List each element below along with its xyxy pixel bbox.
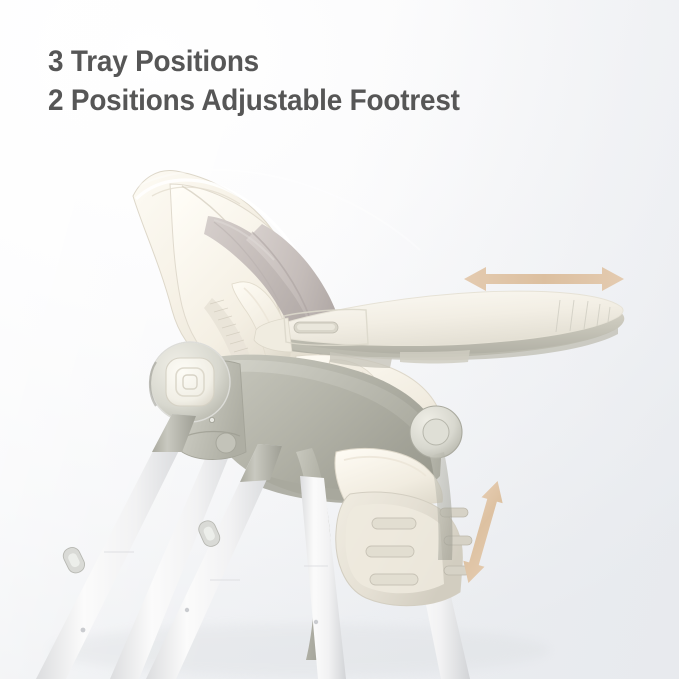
- product-feature-image: 3 Tray Positions 2 Positions Adjustable …: [0, 0, 679, 679]
- tray-slide-arrow: [462, 262, 626, 296]
- recline-hub-right[interactable]: [410, 406, 462, 458]
- footrest-adjust-arrow: [448, 476, 518, 588]
- tray-handle: [294, 322, 338, 333]
- headline-line-1: 3 Tray Positions: [48, 42, 460, 81]
- headline-line-2: 2 Positions Adjustable Footrest: [48, 81, 460, 120]
- recline-button: [166, 358, 214, 406]
- footrest-slots: [366, 518, 418, 585]
- feature-headline: 3 Tray Positions 2 Positions Adjustable …: [48, 42, 460, 120]
- recline-hub[interactable]: [150, 342, 230, 422]
